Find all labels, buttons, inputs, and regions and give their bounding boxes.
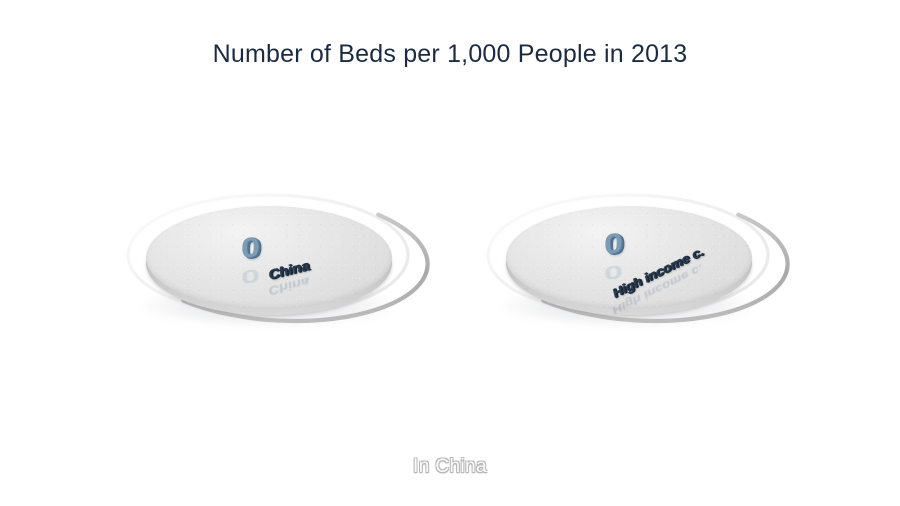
- page-title: Number of Beds per 1,000 People in 2013: [0, 40, 900, 69]
- gauge-value: 0: [604, 229, 623, 259]
- gauge-value: 0: [241, 233, 260, 263]
- value-reflection: 0: [604, 262, 623, 283]
- gauge-china[interactable]: 0 0 China China: [118, 175, 418, 335]
- chart-footer-caption: In China: [0, 456, 900, 478]
- value-reflection: 0: [241, 266, 260, 287]
- gauge-high-income-c[interactable]: 0 0 High income c. High income c.: [478, 175, 778, 335]
- chart-plot-area: 0 0 China China: [0, 155, 900, 355]
